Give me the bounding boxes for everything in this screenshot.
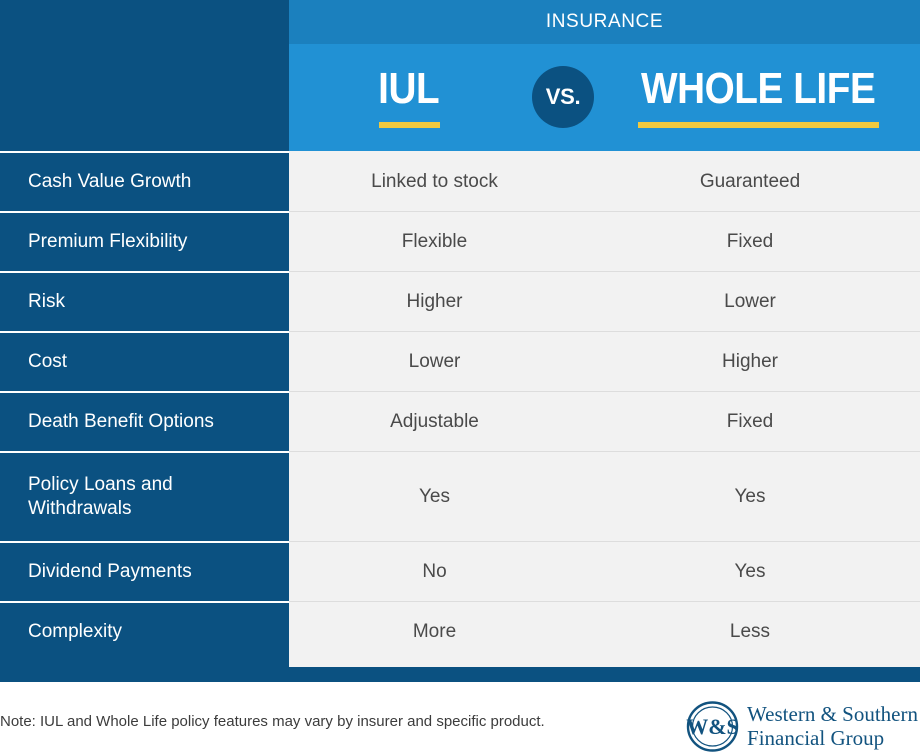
versus-badge: VS. xyxy=(532,66,594,128)
row-values: MoreLess xyxy=(289,601,920,662)
column-header-whole-life: WHOLE LIFE xyxy=(597,44,920,151)
cell-iul: No xyxy=(289,542,580,601)
column-header-iul: IUL xyxy=(289,44,529,151)
cell-whole-life: Lower xyxy=(580,272,920,331)
row-feature-label: Cash Value Growth xyxy=(0,151,289,211)
cell-iul: Lower xyxy=(289,332,580,391)
row-feature-label: Complexity xyxy=(0,601,289,662)
logo-line-1: Western & Southern xyxy=(747,703,918,727)
row-feature-label: Premium Flexibility xyxy=(0,211,289,271)
versus-badge-label: VS. xyxy=(546,84,581,110)
row-values: HigherLower xyxy=(289,271,920,331)
column-header-whole-life-label: WHOLE LIFE xyxy=(641,67,875,111)
comparison-table: Cash Value GrowthLinked to stockGuarante… xyxy=(0,151,920,662)
cell-iul: Higher xyxy=(289,272,580,331)
table-row: RiskHigherLower xyxy=(0,271,920,331)
table-row: Policy Loans and WithdrawalsYesYes xyxy=(0,451,920,541)
cell-whole-life: Less xyxy=(580,602,920,662)
cell-iul: Adjustable xyxy=(289,392,580,451)
row-values: FlexibleFixed xyxy=(289,211,920,271)
row-values: Linked to stockGuaranteed xyxy=(289,151,920,211)
cell-whole-life: Yes xyxy=(580,452,920,541)
infographic-root: INSURANCE IUL WHOLE LIFE VS. Cash Value … xyxy=(0,0,920,755)
cell-iul: Flexible xyxy=(289,212,580,271)
cell-whole-life: Fixed xyxy=(580,212,920,271)
table-bottom-band xyxy=(289,667,920,682)
row-feature-label: Policy Loans and Withdrawals xyxy=(0,451,289,541)
insurance-band-label: INSURANCE xyxy=(289,0,920,44)
row-feature-label: Risk xyxy=(0,271,289,331)
cell-iul: More xyxy=(289,602,580,662)
logo-wordmark: Western & Southern Financial Group xyxy=(747,703,918,750)
row-values: YesYes xyxy=(289,451,920,541)
cell-iul: Linked to stock xyxy=(289,152,580,211)
row-feature-label: Death Benefit Options xyxy=(0,391,289,451)
cell-whole-life: Yes xyxy=(580,542,920,601)
column-header-whole-life-underline xyxy=(638,122,879,128)
footer-note: Note: IUL and Whole Life policy features… xyxy=(0,713,545,730)
cell-whole-life: Higher xyxy=(580,332,920,391)
row-values: NoYes xyxy=(289,541,920,601)
footer: Note: IUL and Whole Life policy features… xyxy=(0,682,920,755)
table-row: ComplexityMoreLess xyxy=(0,601,920,662)
column-header-iul-label: IUL xyxy=(378,67,439,111)
table-row: Premium FlexibilityFlexibleFixed xyxy=(0,211,920,271)
svg-text:W&S: W&S xyxy=(686,714,739,739)
western-southern-logo: W&S Western & Southern Financial Group xyxy=(686,700,918,753)
w-and-s-monogram-icon: W&S xyxy=(686,700,739,753)
row-feature-label: Dividend Payments xyxy=(0,541,289,601)
cell-whole-life: Fixed xyxy=(580,392,920,451)
table-row: Dividend PaymentsNoYes xyxy=(0,541,920,601)
row-feature-label: Cost xyxy=(0,331,289,391)
logo-line-2: Financial Group xyxy=(747,727,918,751)
cell-whole-life: Guaranteed xyxy=(580,152,920,211)
row-values: LowerHigher xyxy=(289,331,920,391)
column-header-iul-underline xyxy=(379,122,440,128)
cell-iul: Yes xyxy=(289,452,580,541)
table-row: Cash Value GrowthLinked to stockGuarante… xyxy=(0,151,920,211)
row-values: AdjustableFixed xyxy=(289,391,920,451)
table-row: CostLowerHigher xyxy=(0,331,920,391)
table-row: Death Benefit OptionsAdjustableFixed xyxy=(0,391,920,451)
